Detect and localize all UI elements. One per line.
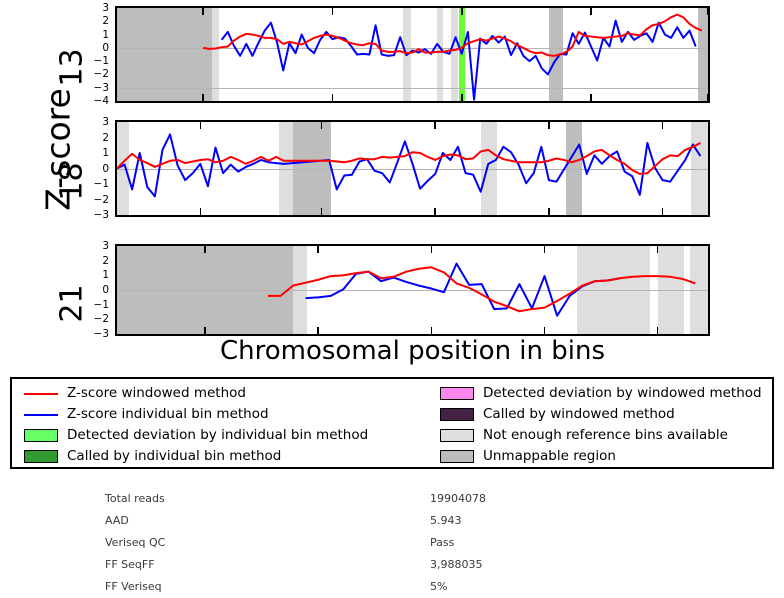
legend-item: Called by windowed method (440, 404, 762, 425)
y-tick-labels-chr13: 3210−1−2−3−4 (83, 6, 109, 103)
legend-item: Unmappable region (440, 446, 762, 467)
x-tick-mark (317, 246, 319, 253)
series-individual-chr21 (306, 264, 620, 316)
metadata-key: AAD (105, 510, 129, 532)
panel-chr13 (115, 6, 710, 103)
y-tick-label: 3 (102, 241, 109, 252)
x-tick-mark (548, 208, 550, 215)
table-row: Veriseq QCPass (105, 532, 665, 554)
legend-box-swatch (440, 429, 474, 442)
x-tick-mark (434, 122, 436, 129)
panel-chr21 (115, 244, 710, 336)
y-tick-label: 2 (102, 16, 109, 27)
y-tick-label: −3 (94, 82, 109, 93)
x-tick-mark (321, 122, 323, 129)
metadata-value: 5% (430, 576, 447, 598)
legend-item: Detected deviation by individual bin met… (24, 425, 368, 446)
table-row: FF Veriseq5% (105, 576, 665, 598)
x-tick-mark (544, 327, 546, 334)
metadata-key: Veriseq QC (105, 532, 165, 554)
x-tick-mark (431, 246, 433, 253)
x-tick-mark (200, 122, 202, 129)
legend-column-right: Detected deviation by windowed methodCal… (440, 383, 762, 467)
legend-label: Unmappable region (483, 450, 616, 464)
panel-plot-area-chr18 (117, 122, 708, 215)
legend-box: Z-score windowed methodZ-score individua… (10, 377, 774, 469)
x-tick-mark (657, 246, 659, 253)
panel-chr18 (115, 120, 710, 217)
series-windowed-chr18 (117, 143, 700, 174)
legend-line-swatch (24, 414, 58, 416)
y-tick-label: −1 (94, 56, 109, 67)
y-tick-label: 1 (102, 270, 109, 281)
y-tick-labels-chr21: 3210−1−2−3 (83, 244, 109, 336)
table-row: Total reads19904078 (105, 488, 665, 510)
panel-plot-area-chr13 (117, 8, 708, 101)
x-tick-mark (204, 327, 206, 334)
x-tick-mark (707, 8, 708, 15)
y-tick-label: −3 (94, 329, 109, 340)
y-tick-label: 1 (102, 29, 109, 40)
legend-label: Not enough reference bins available (483, 429, 728, 443)
y-tick-label: −2 (94, 314, 109, 325)
legend-item: Detected deviation by windowed method (440, 383, 762, 404)
metadata-key: FF SeqFF (105, 554, 155, 576)
metadata-value: Pass (430, 532, 454, 554)
y-tick-label: −2 (94, 69, 109, 80)
y-tick-labels-chr18: 3210−1−2−3 (83, 120, 109, 217)
legend-item: Called by individual bin method (24, 446, 368, 467)
legend-column-left: Z-score windowed methodZ-score individua… (24, 383, 368, 467)
zscore-plot-block: Z-score 133210−1−2−3−4183210−1−2−3213210… (0, 0, 784, 370)
series-individual-chr18 (117, 134, 700, 196)
legend-box-swatch (24, 450, 58, 463)
x-axis-title: Chromosomal position in bins (115, 336, 710, 366)
x-tick-mark (590, 8, 592, 15)
metadata-key: FF Veriseq (105, 576, 162, 598)
y-tick-label: −3 (94, 210, 109, 221)
x-tick-mark (590, 94, 592, 101)
legend-label: Detected deviation by individual bin met… (67, 429, 368, 443)
table-row: FF SeqFF3,988035 (105, 554, 665, 576)
legend-box-swatch (440, 387, 474, 400)
metadata-value: 3,988035 (430, 554, 483, 576)
legend-label: Detected deviation by windowed method (483, 387, 762, 401)
series-individual-chr13 (222, 21, 696, 100)
x-tick-mark (202, 94, 204, 101)
panel-plot-area-chr21 (117, 246, 708, 334)
x-tick-mark (321, 208, 323, 215)
x-tick-mark (332, 94, 334, 101)
legend-box-swatch (440, 408, 474, 421)
table-row: AAD5.943 (105, 510, 665, 532)
y-tick-label: 2 (102, 132, 109, 143)
series-layer-chr13 (117, 8, 708, 101)
metadata-value: 5.943 (430, 510, 462, 532)
legend-item: Z-score windowed method (24, 383, 368, 404)
y-tick-label: 0 (102, 43, 109, 54)
legend-label: Z-score windowed method (67, 387, 246, 401)
legend-label: Z-score individual bin method (67, 408, 269, 422)
y-tick-label: 3 (102, 3, 109, 14)
y-tick-label: 0 (102, 285, 109, 296)
y-tick-label: −4 (94, 96, 109, 107)
legend-box-swatch (24, 429, 58, 442)
x-tick-mark (544, 246, 546, 253)
y-tick-label: 2 (102, 255, 109, 266)
y-tick-label: −2 (94, 194, 109, 205)
x-tick-mark (202, 8, 204, 15)
legend-label: Called by windowed method (483, 408, 675, 422)
legend-box-swatch (440, 450, 474, 463)
x-tick-mark (657, 327, 659, 334)
metadata-value: 19904078 (430, 488, 486, 510)
x-tick-mark (707, 94, 708, 101)
y-tick-label: 0 (102, 163, 109, 174)
series-layer-chr18 (117, 122, 708, 215)
x-tick-mark (662, 122, 664, 129)
y-tick-label: 1 (102, 148, 109, 159)
x-tick-mark (332, 8, 334, 15)
x-tick-mark (204, 246, 206, 253)
x-tick-mark (662, 208, 664, 215)
x-tick-mark (200, 208, 202, 215)
x-tick-mark (461, 8, 463, 15)
legend-label: Called by individual bin method (67, 450, 281, 464)
legend-item: Z-score individual bin method (24, 404, 368, 425)
metadata-table: Total reads19904078AAD5.943Veriseq QCPas… (105, 488, 665, 598)
y-tick-label: −1 (94, 299, 109, 310)
x-tick-mark (434, 208, 436, 215)
series-windowed-chr21 (268, 267, 696, 311)
x-tick-mark (431, 327, 433, 334)
metadata-key: Total reads (105, 488, 165, 510)
legend-item: Not enough reference bins available (440, 425, 762, 446)
y-tick-label: 3 (102, 117, 109, 128)
x-tick-mark (548, 122, 550, 129)
legend-line-swatch (24, 393, 58, 395)
x-tick-mark (317, 327, 319, 334)
x-tick-mark (461, 94, 463, 101)
y-tick-label: −1 (94, 179, 109, 190)
series-layer-chr21 (117, 246, 708, 334)
